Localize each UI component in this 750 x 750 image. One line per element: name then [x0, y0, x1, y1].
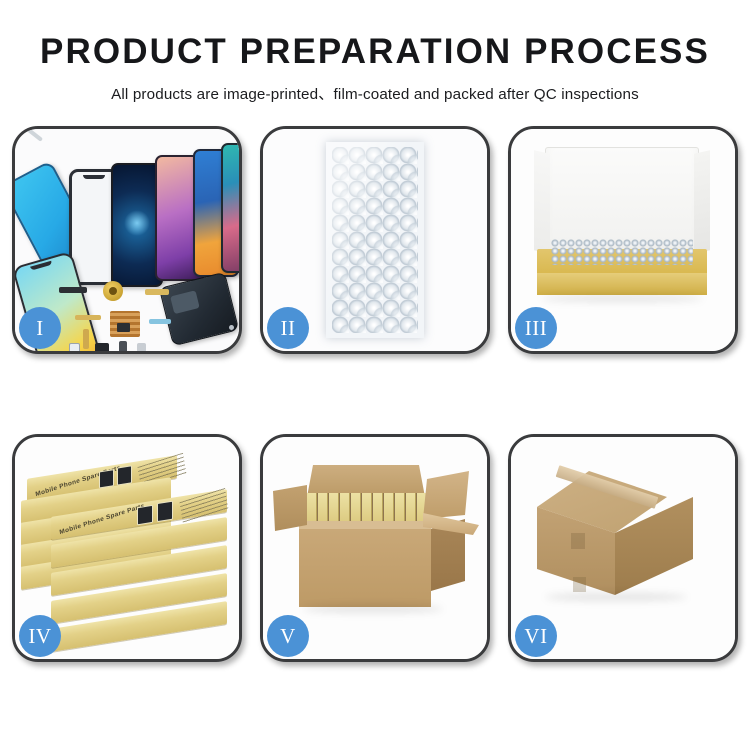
- phone-back-housing-icon: [159, 272, 239, 347]
- phone-screen-teal-icon: [221, 143, 239, 273]
- carton-flap-right-icon: [423, 471, 469, 519]
- earpiece-bar-icon: [59, 287, 87, 293]
- flex-cable-vertical-icon: [83, 329, 89, 349]
- screw-icon: [229, 325, 234, 330]
- step-panel-i: I: [12, 126, 242, 354]
- carton-front-icon: [299, 529, 431, 607]
- step-badge-iv: IV: [19, 615, 61, 657]
- camera-module-icon: [95, 343, 109, 351]
- step-panel-v: V: [260, 434, 490, 662]
- screw-second-icon: [237, 335, 239, 340]
- box-phone-graphic-icon: [157, 501, 173, 523]
- step-badge-v: V: [267, 615, 309, 657]
- infographic-page: PRODUCT PREPARATION PROCESS All products…: [0, 0, 750, 750]
- carton-shadow: [545, 593, 687, 601]
- step-badge-iii: III: [515, 307, 557, 349]
- box-shadow: [541, 295, 703, 302]
- connector-gray-icon: [119, 341, 127, 351]
- carton-flap-left-icon: [273, 485, 307, 531]
- step-badge-i: I: [19, 307, 61, 349]
- tray-front-panel-icon: [537, 273, 707, 295]
- page-subtitle: All products are image-printed、film-coat…: [0, 82, 750, 104]
- connector-small-icon: [137, 343, 146, 351]
- carton-shadow: [303, 605, 443, 613]
- page-title: PRODUCT PREPARATION PROCESS: [0, 34, 750, 69]
- flex-cable-gold-icon: [145, 289, 169, 295]
- flex-cable-icon: [75, 315, 101, 320]
- step-badge-ii: II: [267, 307, 309, 349]
- step-panel-ii: II: [260, 126, 490, 354]
- speaker-coil-icon: [103, 281, 123, 301]
- box-phone-graphic-icon: [137, 505, 153, 526]
- step-panel-vi: VI: [508, 434, 738, 662]
- bubble-grid-icon: [332, 147, 418, 333]
- step-badge-vi: VI: [515, 615, 557, 657]
- bubble-wrap-sleeve-icon: [326, 142, 424, 338]
- bubble-wrapped-content-icon: [551, 239, 693, 265]
- header: PRODUCT PREPARATION PROCESS All products…: [0, 0, 750, 104]
- step-panel-iii: III: [508, 126, 738, 354]
- carton-seam-lower-icon: [573, 577, 586, 592]
- kraft-tray-icon: [537, 249, 707, 295]
- tweezers-icon: [17, 129, 43, 142]
- step-panel-iv: Mobile Phone Spare Parts Mobile Phone Sp…: [12, 434, 242, 662]
- process-steps-grid: I II III: [12, 126, 738, 662]
- flex-cable-blue-icon: [149, 319, 171, 324]
- connector-white-icon: [69, 343, 80, 351]
- carton-seam-upper-icon: [571, 533, 585, 549]
- chip-icon: [117, 323, 130, 332]
